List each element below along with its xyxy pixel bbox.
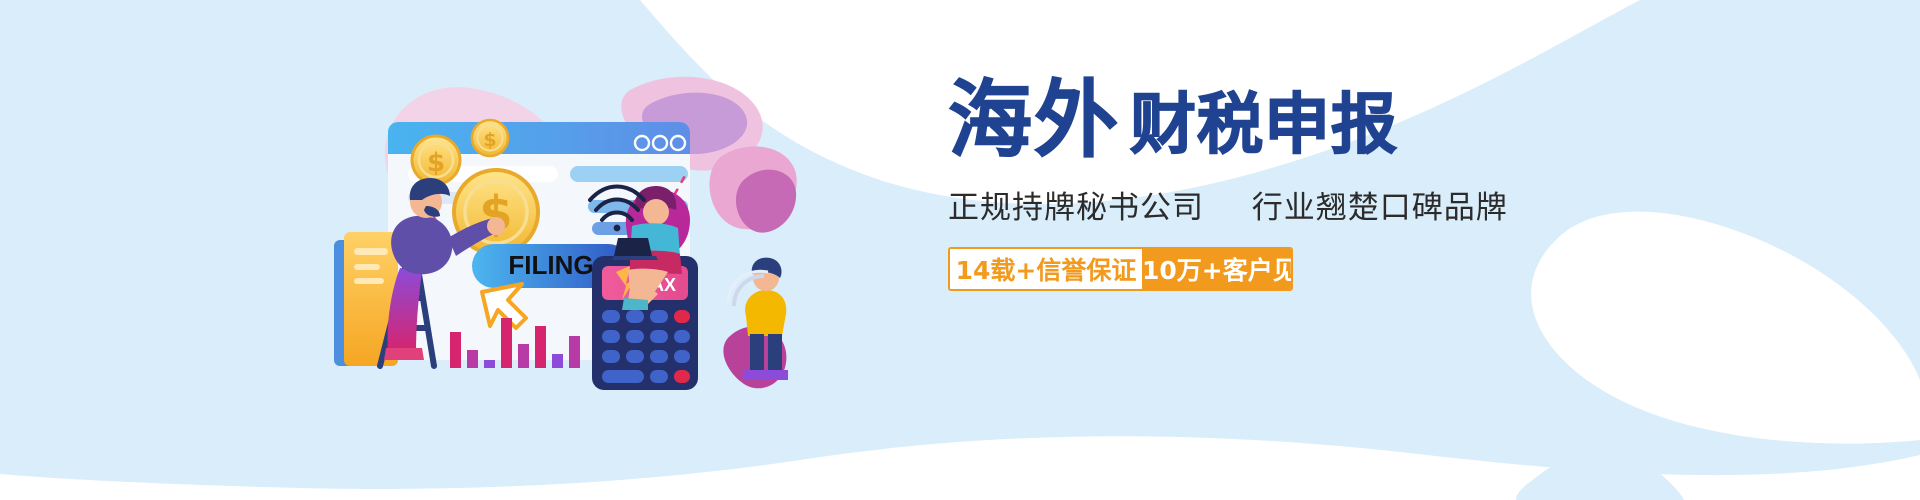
copy-block: 海外 财税申报 正规持牌秘书公司 行业翘楚口碑品牌 14载+信誉保证 10万+客…: [948, 78, 1568, 291]
subtitle: 正规持牌秘书公司 行业翘楚口碑品牌: [948, 182, 1568, 227]
subtitle-right: 行业翘楚口碑品牌: [1252, 190, 1508, 226]
svg-text:$: $: [483, 129, 496, 151]
illustration-svg: $ $ $: [330, 60, 870, 390]
coin-small-top: $: [472, 120, 508, 156]
banner-root: $ $ $: [0, 0, 1920, 500]
headline-part-2: 财税申报: [1130, 92, 1398, 158]
badge-customers: 10万+客户见证: [1142, 249, 1293, 289]
subtitle-left: 正规持牌秘书公司: [948, 190, 1204, 226]
badge-group: 14载+信誉保证 10万+客户见证: [948, 247, 1293, 291]
svg-text:$: $: [427, 148, 445, 178]
filing-button-label: FILING: [508, 250, 593, 280]
badge-credibility: 14载+信誉保证: [950, 249, 1142, 289]
coin-small-left: $: [412, 136, 460, 184]
headline-part-1: 海外: [948, 78, 1120, 162]
headline: 海外 财税申报: [948, 78, 1568, 162]
hero-illustration: $ $ $: [330, 60, 870, 390]
